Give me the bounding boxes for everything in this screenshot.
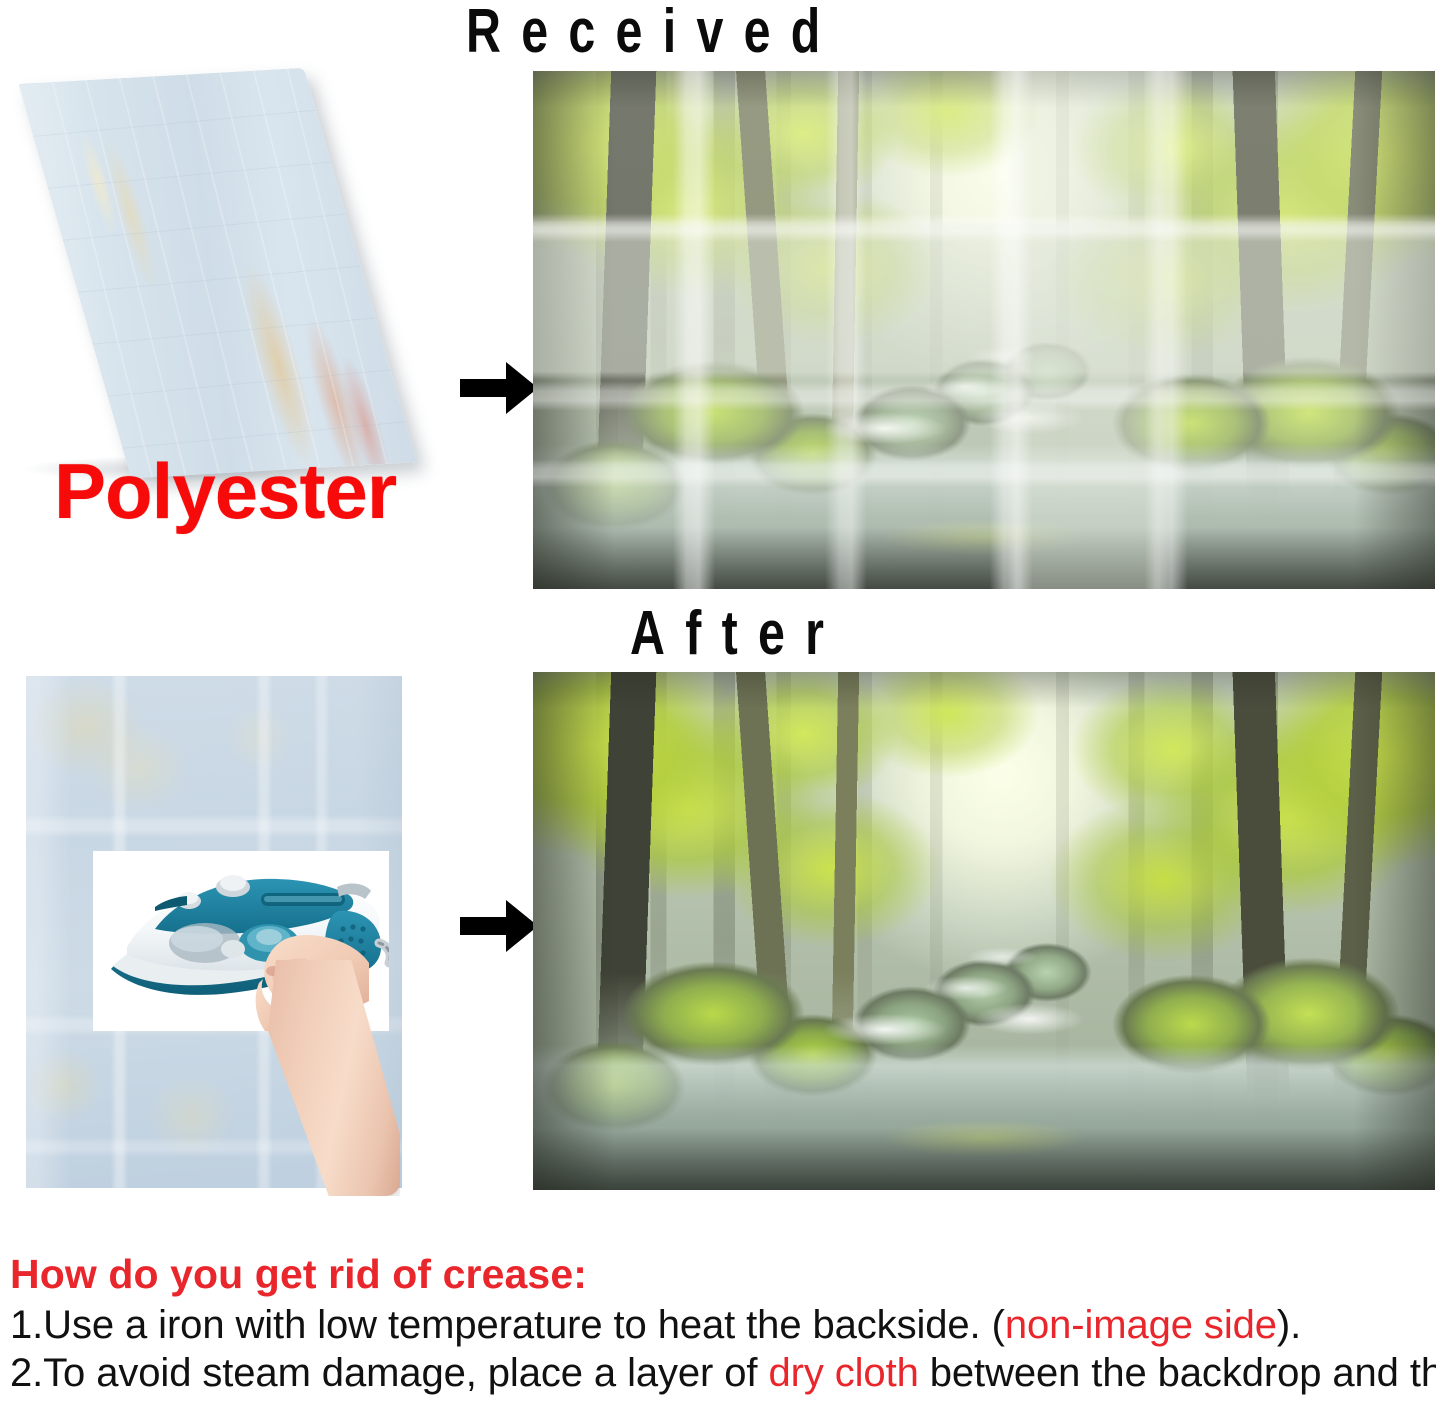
after-section-title: After [630, 598, 844, 669]
image-vignette [533, 672, 1435, 1190]
care-instructions: How do you get rid of crease: 1.Use a ir… [10, 1252, 1436, 1397]
instruction-2-text-b: between the backdrop and the iron. [919, 1351, 1436, 1395]
material-label: Polyester [54, 452, 396, 530]
folded-fabric [18, 68, 417, 479]
instruction-1-text-b: ). [1277, 1303, 1301, 1347]
polyester-swatch-photo [18, 84, 430, 488]
right-arrow-icon [460, 362, 538, 414]
care-instruction-2: 2.To avoid steam damage, place a layer o… [10, 1351, 1436, 1396]
care-instructions-heading: How do you get rid of crease: [10, 1252, 1436, 1296]
instruction-1-highlight: non-image side [1005, 1303, 1277, 1347]
instruction-1-text-a: 1.Use a iron with low temperature to hea… [10, 1303, 1005, 1347]
received-section-title: Received [466, 0, 841, 67]
right-arrow-icon [460, 900, 538, 952]
instruction-2-highlight: dry cloth [768, 1351, 918, 1395]
instruction-2-text-a: 2.To avoid steam damage, place a layer o… [10, 1351, 768, 1395]
instruction-graphic: Received Polyester After [0, 0, 1436, 1402]
care-instruction-1: 1.Use a iron with low temperature to hea… [10, 1303, 1436, 1348]
after-backdrop-image [533, 672, 1435, 1190]
received-backdrop-image [533, 71, 1435, 589]
image-vignette [533, 71, 1435, 589]
